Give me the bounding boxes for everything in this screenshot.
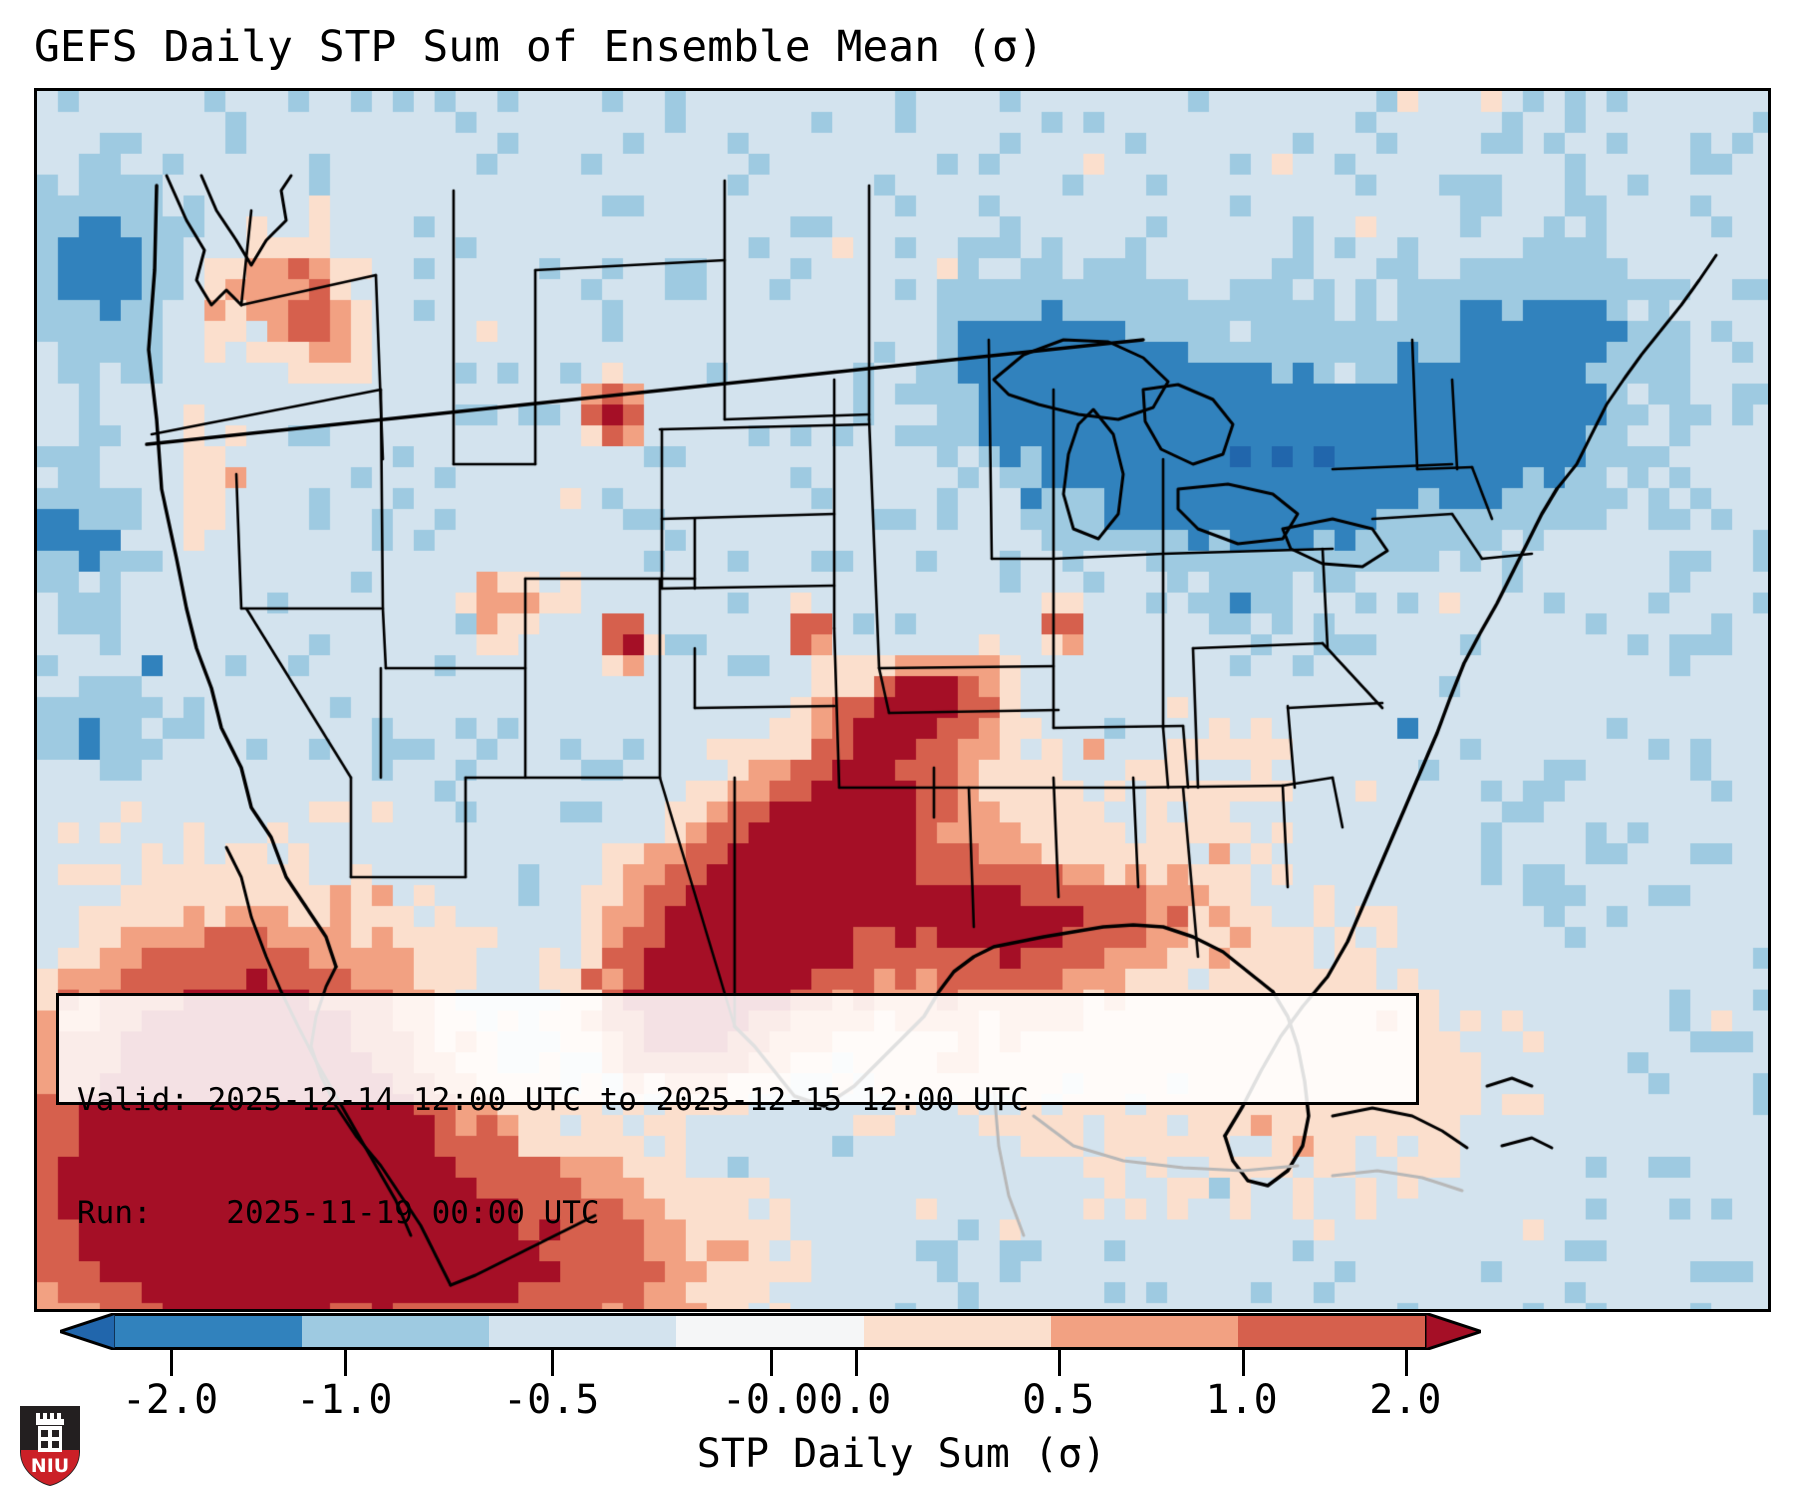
colorbar-tick-labels: -2.0-1.0-0.5-0.00.00.51.02.0 — [0, 1374, 1803, 1426]
colorbar-tick-3 — [770, 1350, 773, 1376]
colorbar-axis-label: STP Daily Sum (σ) — [0, 1428, 1803, 1480]
colorbar-tick-label-5: 0.5 — [1022, 1374, 1094, 1426]
colorbar-tick-label-4: 0.0 — [819, 1374, 891, 1426]
colorbar-band-4 — [864, 1313, 1051, 1350]
niu-logo: NIU — [18, 1404, 82, 1488]
colorbar-band-3 — [676, 1313, 863, 1350]
colorbar-tick-label-7: 2.0 — [1369, 1374, 1441, 1426]
colorbar-band-1 — [302, 1313, 489, 1350]
figure-root: GEFS Daily STP Sum of Ensemble Mean (σ) … — [0, 0, 1803, 1506]
colorbar-extend-low-arrow — [60, 1313, 116, 1350]
colorbar-tick-2 — [551, 1350, 554, 1376]
colorbar-tick-label-6: 1.0 — [1205, 1374, 1277, 1426]
colorbar-tick-label-3: -0.0 — [722, 1374, 818, 1426]
colorbar-tick-0 — [170, 1350, 173, 1376]
colorbar-ticks — [60, 1350, 1480, 1376]
colorbar-band-2 — [489, 1313, 676, 1350]
niu-logo-text: NIU — [31, 1455, 69, 1477]
colorbar-tick-label-1: -1.0 — [296, 1374, 392, 1426]
colorbar-tick-7 — [1405, 1350, 1408, 1376]
colorbar-band-6 — [1238, 1313, 1425, 1350]
run-time-line: Run: 2025-11-19 00:00 UTC — [77, 1193, 1416, 1234]
page-title: GEFS Daily STP Sum of Ensemble Mean (σ) — [34, 16, 1774, 78]
colorbar-band-5 — [1051, 1313, 1238, 1350]
colorbar-tick-label-0: -2.0 — [122, 1374, 218, 1426]
colorbar-tick-4 — [855, 1350, 858, 1376]
colorbar-tick-5 — [1058, 1350, 1061, 1376]
colorbar-tick-label-2: -0.5 — [503, 1374, 599, 1426]
colorbar-tick-1 — [344, 1350, 347, 1376]
colorbar-band-0 — [115, 1313, 302, 1350]
colorbar-extend-high-arrow — [1425, 1313, 1481, 1350]
colorbar-bands[interactable] — [115, 1313, 1425, 1350]
valid-run-infobox: Valid: 2025-12-14 12:00 UTC to 2025-12-1… — [56, 993, 1419, 1105]
valid-time-line: Valid: 2025-12-14 12:00 UTC to 2025-12-1… — [77, 1080, 1416, 1121]
colorbar-tick-6 — [1242, 1350, 1245, 1376]
colorbar[interactable] — [60, 1313, 1480, 1353]
